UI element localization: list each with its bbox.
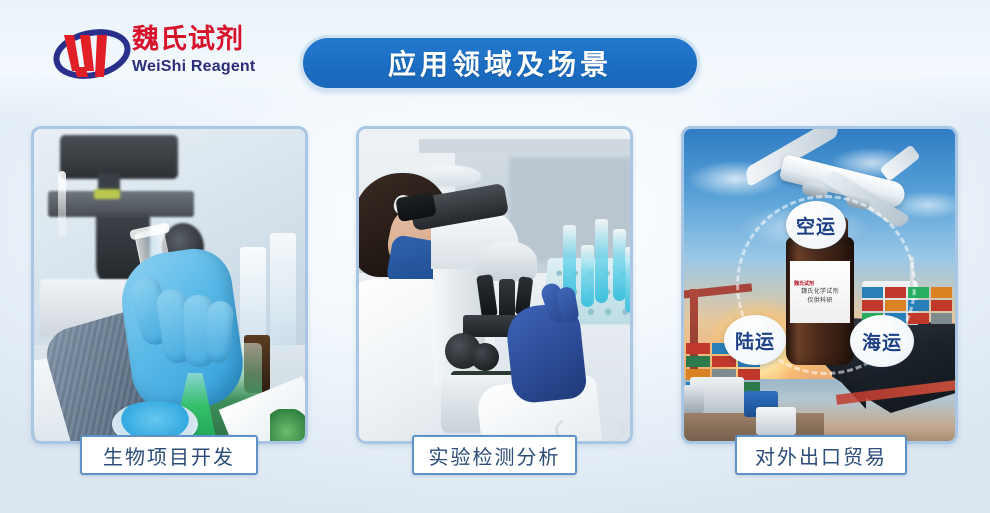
card-export[interactable]: 魏氏试剂 魏氏化学试剂 仅供科研 空运 陆运 海运	[681, 126, 958, 444]
caption-export-label: 对外出口贸易	[755, 441, 887, 470]
page-title: 应用领域及场景	[388, 43, 612, 83]
biology-flask-microscope-photo	[34, 129, 305, 441]
section-title-banner: 应用领域及场景	[300, 35, 700, 91]
scientist-microscope-photo	[359, 129, 630, 441]
card-analysis[interactable]	[356, 126, 633, 444]
header: 魏氏试剂 WeiShi Reagent 应用领域及场景	[0, 0, 990, 118]
weishi-w-logo-icon	[52, 27, 132, 83]
application-cards: 魏氏试剂 魏氏化学试剂 仅供科研 空运 陆运 海运	[0, 126, 990, 466]
badge-land-freight-label: 陆运	[735, 327, 775, 354]
caption-analysis-label: 实验检测分析	[429, 441, 561, 470]
bottle-label-line1: 魏氏化学试剂	[801, 287, 839, 296]
logo-chinese-name: 魏氏试剂	[132, 24, 272, 56]
badge-sea-freight-label: 海运	[862, 328, 902, 355]
company-logo: 魏氏试剂 WeiShi Reagent	[52, 24, 267, 86]
bottle-label: 魏氏试剂 魏氏化学试剂 仅供科研	[790, 261, 850, 323]
badge-air-freight-label: 空运	[796, 212, 836, 239]
badge-land-freight: 陆运	[724, 315, 786, 365]
bottle-label-line2: 仅供科研	[807, 296, 832, 305]
badge-air-freight: 空运	[786, 201, 846, 249]
caption-export: 对外出口贸易	[735, 435, 907, 475]
caption-biology: 生物项目开发	[80, 435, 258, 475]
export-logistics-photo: 魏氏试剂 魏氏化学试剂 仅供科研 空运 陆运 海运	[684, 129, 955, 441]
caption-analysis: 实验检测分析	[412, 435, 577, 475]
logo-wordmark: 魏氏试剂 WeiShi Reagent	[132, 24, 272, 77]
page-background: 魏氏试剂 WeiShi Reagent 应用领域及场景	[0, 0, 990, 513]
logo-english-name: WeiShi Reagent	[132, 57, 272, 77]
bottle-brand: 魏氏试剂	[794, 280, 814, 287]
card-biology[interactable]	[31, 126, 308, 444]
caption-biology-label: 生物项目开发	[103, 441, 235, 470]
badge-sea-freight: 海运	[850, 315, 914, 367]
